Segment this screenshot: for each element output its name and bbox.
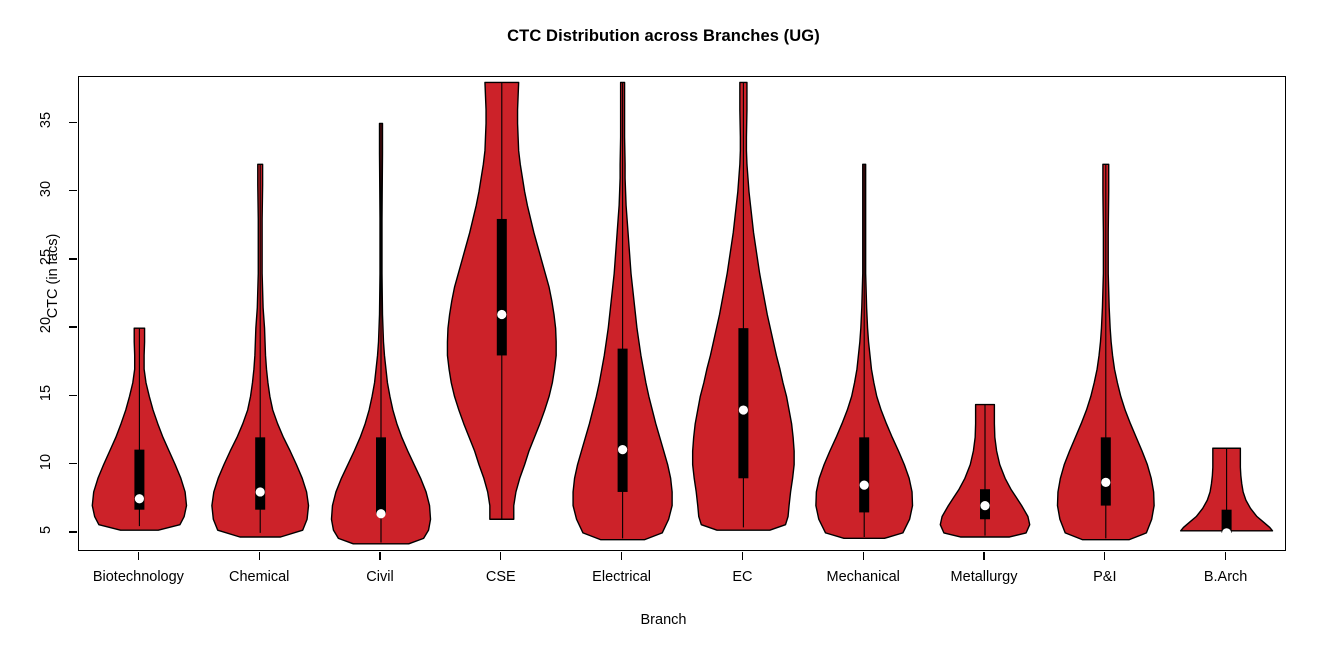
- violin-ec: [693, 82, 794, 530]
- x-tick-label-ec: EC: [732, 569, 752, 585]
- y-tick-label: 10: [38, 442, 54, 482]
- median-marker: [618, 445, 627, 454]
- y-tick-mark: [69, 326, 77, 327]
- x-tick-mark: [259, 552, 260, 560]
- x-tick-mark: [379, 552, 380, 560]
- y-tick-label: 15: [38, 373, 54, 413]
- y-tick-mark: [69, 531, 77, 532]
- x-tick-mark: [1225, 552, 1226, 560]
- x-tick-label-cse: CSE: [486, 569, 516, 585]
- x-tick-mark: [742, 552, 743, 560]
- x-tick-mark: [138, 552, 139, 560]
- x-tick-label-mechanical: Mechanical: [827, 569, 900, 585]
- median-marker: [135, 494, 144, 503]
- median-marker: [980, 501, 989, 510]
- x-tick-mark: [863, 552, 864, 560]
- iqr-box: [497, 219, 507, 355]
- median-marker: [256, 487, 265, 496]
- plot-area: [78, 76, 1286, 551]
- x-tick-label-civil: Civil: [366, 569, 393, 585]
- x-tick-label-b-arch: B.Arch: [1204, 569, 1248, 585]
- median-marker: [497, 310, 506, 319]
- y-tick-label: 5: [38, 510, 54, 550]
- y-tick-mark: [69, 122, 77, 123]
- x-axis-title: Branch: [0, 612, 1327, 628]
- y-axis-title: CTC (in lacs): [45, 176, 61, 376]
- median-marker: [1101, 478, 1110, 487]
- x-tick-mark: [983, 552, 984, 560]
- violin-electrical: [573, 82, 672, 539]
- iqr-box: [618, 349, 628, 492]
- violin-cse: [447, 82, 556, 519]
- violin-chemical: [212, 164, 309, 537]
- x-tick-label-chemical: Chemical: [229, 569, 289, 585]
- violin-p-i: [1057, 164, 1154, 539]
- y-tick-mark: [69, 463, 77, 464]
- iqr-box: [255, 437, 265, 509]
- x-tick-mark: [621, 552, 622, 560]
- iqr-box: [376, 437, 386, 513]
- median-marker: [739, 405, 748, 414]
- x-tick-mark: [1104, 552, 1105, 560]
- violin-plot-figure: CTC Distribution across Branches (UG) 51…: [0, 0, 1327, 653]
- violin-civil: [331, 123, 430, 543]
- x-tick-label-p-i: P&I: [1093, 569, 1116, 585]
- y-tick-mark: [69, 190, 77, 191]
- y-tick-label: 35: [38, 100, 54, 140]
- median-marker: [1222, 528, 1231, 537]
- violin-b-arch: [1181, 448, 1273, 537]
- violin-mechanical: [816, 164, 913, 538]
- median-marker: [860, 481, 869, 490]
- x-tick-label-metallurgy: Metallurgy: [951, 569, 1018, 585]
- violin-metallurgy: [940, 405, 1029, 537]
- x-tick-mark: [500, 552, 501, 560]
- x-tick-label-electrical: Electrical: [592, 569, 651, 585]
- y-tick-mark: [69, 258, 77, 259]
- violin-biotechnology: [92, 328, 186, 530]
- page-title: CTC Distribution across Branches (UG): [0, 27, 1327, 46]
- plot-svg: [79, 77, 1286, 551]
- median-marker: [376, 509, 385, 518]
- iqr-box: [1101, 437, 1111, 505]
- iqr-box: [859, 437, 869, 512]
- x-tick-label-biotechnology: Biotechnology: [93, 569, 184, 585]
- iqr-box: [738, 328, 748, 478]
- y-tick-mark: [69, 395, 77, 396]
